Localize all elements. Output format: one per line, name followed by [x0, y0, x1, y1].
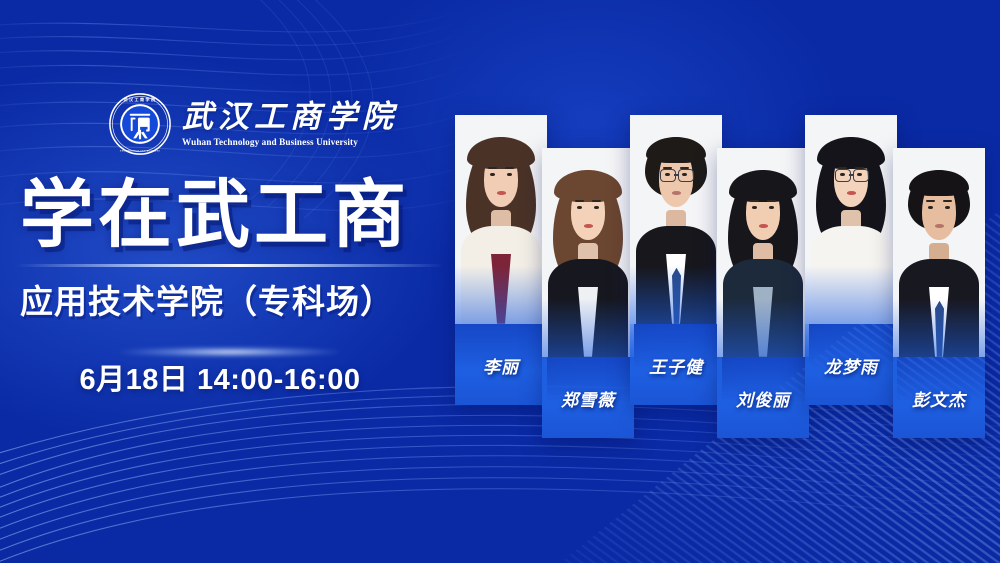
speaker-name: 龙梦雨 [805, 353, 897, 378]
event-poster: 武汉工商学院 TECHNOLOGY AND BUSINESS 1999 武汉工商… [0, 0, 1000, 563]
speaker-name: 刘俊丽 [717, 386, 809, 411]
speaker-card[interactable]: 彭文杰 [893, 148, 985, 438]
speaker-name: 李丽 [455, 353, 547, 378]
speaker-card[interactable]: 刘俊丽 [717, 148, 809, 438]
speaker-name: 彭文杰 [893, 386, 985, 411]
speaker-card[interactable]: 李丽 [455, 115, 547, 405]
speaker-card[interactable]: 龙梦雨 [805, 115, 897, 405]
speaker-card[interactable]: 王子健 [630, 115, 722, 405]
speaker-name: 郑雪薇 [542, 386, 634, 411]
speaker-name: 王子健 [630, 353, 722, 378]
speaker-card-list: 李丽郑雪薇王子健刘俊丽龙梦雨彭文杰 [0, 0, 1000, 563]
speaker-card[interactable]: 郑雪薇 [542, 148, 634, 438]
